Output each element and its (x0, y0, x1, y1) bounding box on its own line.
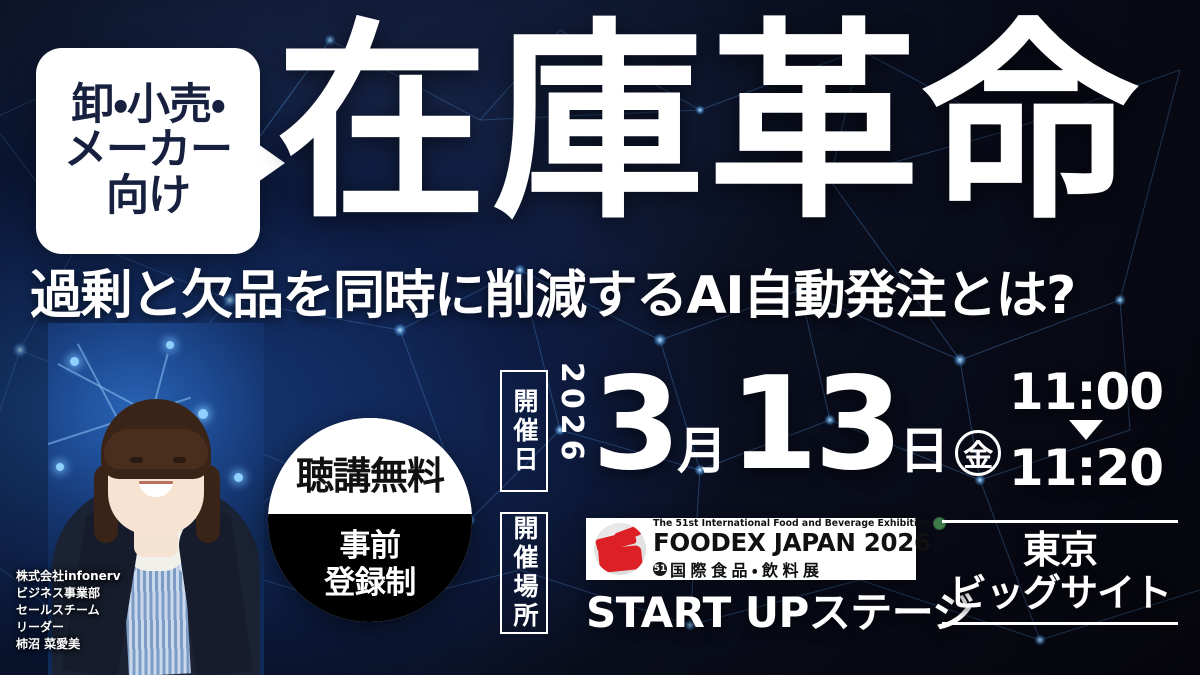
presenter-credit: 株式会社infonerv ビジネス事業部 セールスチーム リーダー 柿沼 菜愛美 (16, 568, 121, 653)
presenter-name: 柿沼 菜愛美 (16, 636, 121, 653)
event-day-number: 13 (729, 366, 899, 484)
audience-tag-line-1: 卸・小売・ (71, 83, 224, 129)
audience-tag-line-3: 向け (106, 174, 190, 220)
event-day-unit: 日 (899, 426, 949, 476)
event-year: 2026 (556, 362, 586, 472)
event-start-time: 11:00 (1009, 366, 1163, 418)
audience-tag-line-2: メーカー (64, 128, 232, 174)
event-month-unit: 月 (677, 426, 727, 476)
venue-place-text: 東京 ビッグサイト (949, 523, 1171, 622)
event-month-number: 3 (592, 366, 677, 484)
foodex-japanese-row: 51 国際食品・飲料展 (653, 557, 908, 581)
foodex-logo: The 51st International Food and Beverage… (586, 518, 916, 580)
date-label: 開催日 (506, 388, 542, 475)
foodex-edition-badge: 51 (653, 562, 667, 576)
presenter-role: リーダー (16, 619, 121, 636)
registration-label-line-2: 登録制 (324, 565, 416, 602)
venue-divider-bottom (942, 622, 1178, 625)
venue-label: 開催場所 (506, 515, 542, 631)
date-label-box: 開催日 (500, 370, 548, 492)
venue-label-box: 開催場所 (500, 512, 548, 634)
presenter-eye-left (130, 457, 143, 463)
presenter-division: ビジネス事業部 (16, 585, 121, 602)
presenter-bangs (104, 429, 208, 469)
foodex-logo-text: The 51st International Food and Beverage… (653, 517, 908, 580)
stage-name: START UPステージ (586, 592, 974, 634)
down-triangle-icon (1069, 420, 1103, 440)
free-admission-label: 聴講無料 (296, 445, 444, 500)
photo-mesh-node (234, 473, 243, 482)
venue-place-line-1: 東京 (949, 529, 1171, 572)
photo-mesh-node (166, 341, 174, 349)
presenter-eye-right (173, 457, 186, 463)
event-banner: 卸・小売・ メーカー 向け 在庫革命 過剰と欠品を同時に削減するAI自動発注とは… (0, 0, 1200, 675)
event-weekday-badge: 金 (955, 430, 1001, 476)
event-end-time: 11:20 (1009, 442, 1163, 494)
foodex-name: FOODEX JAPAN 2026 (653, 530, 908, 555)
audience-tag: 卸・小売・ メーカー 向け (36, 48, 260, 254)
venue-place-line-2: ビッグサイト (949, 572, 1171, 615)
presenter-team: セールスチーム (16, 602, 121, 619)
photo-mesh-node (70, 357, 79, 366)
subtitle: 過剰と欠品を同時に削減するAI自動発注とは? (30, 268, 1180, 324)
event-date: 2026 3 月 13 日 金 (556, 362, 1001, 484)
foodex-japanese-name: 国際食品・飲料展 (670, 557, 823, 581)
venue-place: 東京 ビッグサイト (942, 520, 1178, 625)
photo-mesh-node (56, 463, 64, 471)
event-time: 11:00 11:20 (998, 366, 1174, 494)
foodex-logo-mark-icon (594, 523, 646, 575)
presenter-company: 株式会社infonerv (16, 568, 121, 585)
photo-mesh-node (198, 409, 208, 419)
registration-label-line-1: 事前 (340, 528, 401, 565)
free-admission-badge: 聴講無料 事前 登録制 (268, 418, 472, 622)
page-title: 在庫革命 (276, 18, 1140, 230)
